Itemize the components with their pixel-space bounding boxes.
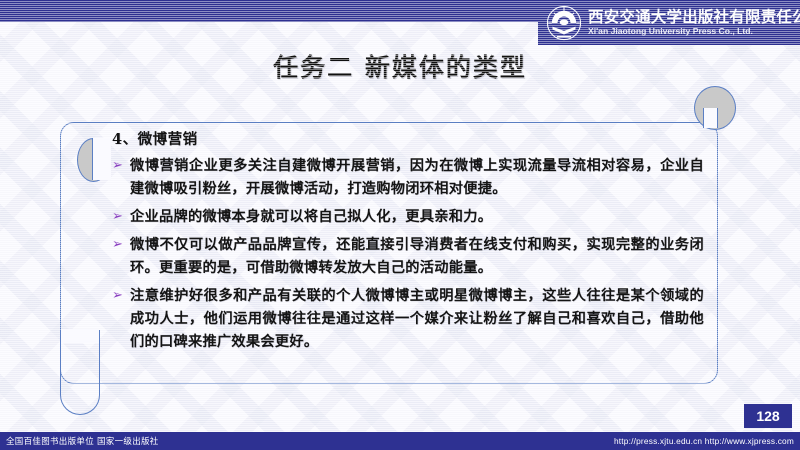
bullet-arrow-icon: ➢ [112, 206, 128, 227]
decorative-notch-top-right [703, 108, 718, 128]
footer-bar: 全国百佳图书出版单位 国家一级出版社 http://press.xjtu.edu… [0, 432, 800, 450]
publisher-name-cn: 西安交通大学出版社有限责任公司 [588, 9, 800, 25]
bullet-arrow-icon: ➢ [112, 155, 128, 176]
list-item-text: 注意维护好很多和产品有关联的个人微博博主或明星微博博主，这些人往往是某个领域的成… [130, 285, 704, 354]
content-heading: 4、微博营销 [112, 128, 704, 149]
publisher-logo-block: 西安交通大学出版社有限责任公司 Xi'an Jiaotong Universit… [538, 0, 800, 45]
xjtu-press-emblem-icon [546, 5, 582, 41]
publisher-name-en: Xi'an Jiaotong University Press Co., Ltd… [588, 27, 800, 36]
bullet-arrow-icon: ➢ [112, 285, 128, 306]
list-item: ➢ 微博营销企业更多关注自建微博开展营销，因为在微博上实现流量导流相对容易，企业… [112, 155, 704, 201]
page-title: 任务二 新媒体的类型 [0, 48, 800, 84]
list-item-text: 微博不仅可以做产品品牌宣传，还能直接引导消费者在线支付和购买，实现完整的业务闭环… [130, 234, 704, 280]
publisher-name-wrap: 西安交通大学出版社有限责任公司 Xi'an Jiaotong Universit… [588, 9, 800, 35]
list-item: ➢ 微博不仅可以做产品品牌宣传，还能直接引导消费者在线支付和购买，实现完整的业务… [112, 234, 704, 280]
page-number-badge: 128 [744, 404, 792, 428]
list-item: ➢ 企业品牌的微博本身就可以将自己拟人化，更具亲和力。 [112, 206, 704, 229]
list-item-text: 微博营销企业更多关注自建微博开展营销，因为在微博上实现流量导流相对容易，企业自建… [130, 155, 704, 201]
footer-urls[interactable]: http://press.xjtu.edu.cn http://www.xjpr… [614, 436, 794, 446]
bullet-arrow-icon: ➢ [112, 234, 128, 255]
decorative-tail-mask [61, 329, 99, 343]
content-body: 4、微博营销 ➢ 微博营销企业更多关注自建微博开展营销，因为在微博上实现流量导流… [112, 128, 704, 359]
presentation-slide: 西安交通大学出版社有限责任公司 Xi'an Jiaotong Universit… [0, 0, 800, 450]
footer-tagline: 全国百佳图书出版单位 国家一级出版社 [6, 435, 159, 447]
decorative-notch-top-left [92, 138, 111, 180]
list-item: ➢ 注意维护好很多和产品有关联的个人微博博主或明星微博博主，这些人往往是某个领域… [112, 285, 704, 354]
list-item-text: 企业品牌的微博本身就可以将自己拟人化，更具亲和力。 [130, 206, 704, 229]
